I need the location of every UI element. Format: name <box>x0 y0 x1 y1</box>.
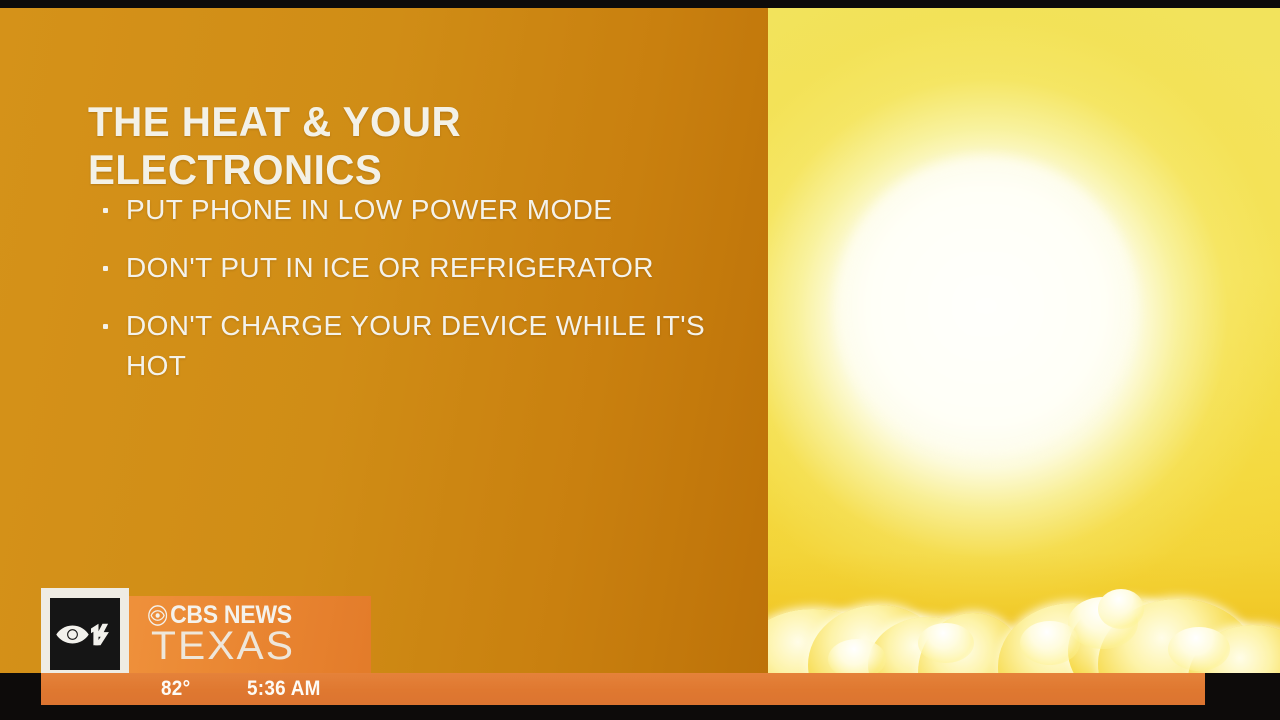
bullet-dot-icon <box>103 208 108 213</box>
cloud-rim-light <box>1098 589 1144 629</box>
list-item-label: PUT PHONE IN LOW POWER MODE <box>126 194 612 225</box>
list-item: PUT PHONE IN LOW POWER MODE <box>100 190 748 230</box>
list-item-label: DON'T CHARGE YOUR DEVICE WHILE IT'S HOT <box>126 310 705 381</box>
bottom-ticker-bar: 82° 5:36 AM <box>41 673 1205 705</box>
cloud-rim-light <box>1020 621 1080 665</box>
clock-readout: 5:36 AM <box>247 677 321 701</box>
letterbox-bottom <box>0 705 1280 720</box>
temperature-readout: 82° <box>161 677 190 701</box>
letterbox-top <box>0 0 1280 8</box>
list-item: DON'T CHARGE YOUR DEVICE WHILE IT'S HOT <box>100 306 748 386</box>
tips-list: PUT PHONE IN LOW POWER MODE DON'T PUT IN… <box>100 190 748 404</box>
station-branding-bug[interactable]: CBS NEWS TEXAS <box>41 588 371 673</box>
video-frame: THE HEAT & YOUR ELECTRONICS PUT PHONE IN… <box>0 8 1280 673</box>
region-name-label: TEXAS <box>151 624 295 668</box>
sun-sky-photo <box>768 8 1280 673</box>
bullet-dot-icon <box>103 324 108 329</box>
bullet-dot-icon <box>103 266 108 271</box>
letterbox-left <box>0 673 41 705</box>
list-item: DON'T PUT IN ICE OR REFRIGERATOR <box>100 248 748 288</box>
cloud-rim-light <box>828 639 886 673</box>
cbs-eye-icon <box>148 605 167 626</box>
station-logo-frame <box>41 588 129 673</box>
cloud-rim-light <box>1168 627 1230 671</box>
sun-disc-icon <box>836 156 1136 456</box>
page-title: THE HEAT & YOUR ELECTRONICS <box>88 98 722 194</box>
heat-tips-graphic-panel: THE HEAT & YOUR ELECTRONICS PUT PHONE IN… <box>0 8 768 673</box>
cbs-eleven-logo-icon <box>50 598 120 670</box>
letterbox-right <box>1205 673 1280 705</box>
cloud-rim-light <box>918 623 974 663</box>
station-logo-box <box>50 598 120 670</box>
broadcast-screen: THE HEAT & YOUR ELECTRONICS PUT PHONE IN… <box>0 0 1280 720</box>
list-item-label: DON'T PUT IN ICE OR REFRIGERATOR <box>126 252 654 283</box>
